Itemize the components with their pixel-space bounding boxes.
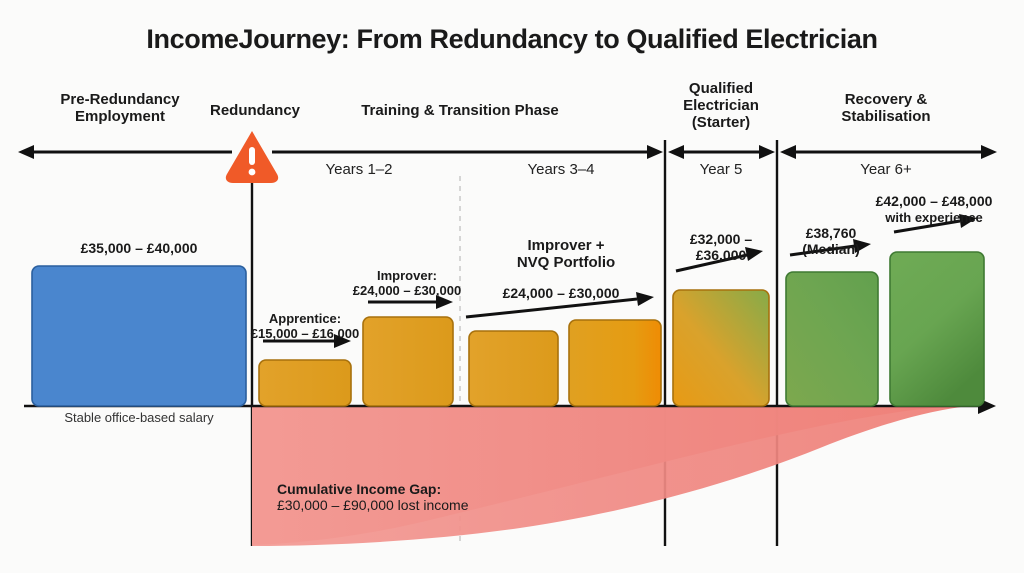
phase-label-recovery: Recovery & Stabilisation — [806, 92, 966, 126]
phase-line-3: (Starter) — [692, 114, 750, 131]
phase-line-1: Qualified — [689, 80, 753, 97]
phase-line-1: Pre-Redundancy — [60, 91, 179, 108]
bars-group — [32, 252, 984, 406]
phase-label-qualified: Qualified Electrician (Starter) — [646, 81, 796, 131]
bar-label-line-2: £24,000 – £30,000 — [353, 283, 461, 298]
bar-label-line-1: £35,000 – £40,000 — [81, 240, 198, 256]
bar-label-line-1: Improver: — [377, 268, 437, 283]
bar-nvq-1[interactable] — [469, 331, 558, 406]
year-label-years-1-2: Years 1–2 — [289, 162, 429, 179]
phase-label-redundancy: Redundancy — [175, 103, 335, 120]
bar-qualified[interactable] — [673, 290, 769, 406]
bar-pre-redundancy[interactable] — [32, 266, 246, 406]
bar-label-line-1: £32,000 – — [690, 231, 752, 247]
bar-label-line-2: (Median) — [802, 241, 860, 257]
bar-label-nvq-value: £24,000 – £30,000 — [461, 286, 661, 302]
phase-line-1: Recovery & — [845, 91, 928, 108]
bar-label-line-1: Apprentice: — [269, 311, 341, 326]
phase-line-1: Training & Transition Phase — [361, 102, 559, 119]
phase-label-training: Training & Transition Phase — [340, 103, 580, 120]
bar-experienced[interactable] — [890, 252, 984, 406]
bar-apprentice[interactable] — [259, 360, 351, 406]
bar-label-line-2: £15,000 – £16,000 — [251, 326, 359, 341]
bar-label-nvq-title: Improver + NVQ Portfolio — [466, 238, 666, 272]
bar-label-line-1: Improver + — [527, 237, 604, 254]
bar-label-median: £38,760 (Median) — [766, 226, 896, 257]
infographic-canvas: IncomeJourney: From Redundancy to Qualif… — [0, 0, 1024, 573]
phase-line-2: Stabilisation — [841, 108, 930, 125]
bar-label-line-1: £24,000 – £30,000 — [503, 285, 620, 301]
bar-label-pre-redundancy: £35,000 – £40,000 — [29, 241, 249, 257]
arrow-left-icon — [18, 145, 34, 159]
arrow-right-icon — [759, 145, 775, 159]
bar-label-line-2: with experience — [885, 210, 983, 225]
bar-label-line-2: NVQ Portfolio — [517, 254, 615, 271]
income-gap-shape — [252, 406, 970, 546]
bar-label-experienced: £42,000 – £48,000 with experience — [834, 194, 1024, 225]
bar-label-apprentice: Apprentice: £15,000 – £16,000 — [215, 312, 395, 341]
timeline-axis — [18, 145, 997, 159]
bar-label-line-1: £38,760 — [806, 225, 857, 241]
bar-label-line-2: £36,000 — [696, 247, 747, 263]
gap-value: £30,000 – £90,000 lost income — [277, 498, 597, 514]
phase-line-2: Employment — [75, 108, 165, 125]
bar-label-line-1: £42,000 – £48,000 — [876, 193, 993, 209]
phase-line-2: Electrician — [683, 97, 759, 114]
gap-title: Cumulative Income Gap: — [277, 482, 597, 498]
phase-line-1: Redundancy — [210, 102, 300, 119]
cumulative-income-gap-label: Cumulative Income Gap: £30,000 – £90,000… — [277, 482, 597, 513]
arrow-right-icon — [647, 145, 663, 159]
bar-median[interactable] — [786, 272, 878, 406]
year-label-year-5: Year 5 — [661, 162, 781, 179]
bar-nvq-2[interactable] — [569, 320, 661, 406]
year-label-year-6-plus: Year 6+ — [816, 162, 956, 179]
arrow-right-icon — [981, 145, 997, 159]
year-label-years-3-4: Years 3–4 — [491, 162, 631, 179]
warning-triangle-icon — [226, 131, 278, 183]
baseline-note: Stable office-based salary — [34, 411, 244, 426]
page-title: IncomeJourney: From Redundancy to Qualif… — [0, 24, 1024, 54]
